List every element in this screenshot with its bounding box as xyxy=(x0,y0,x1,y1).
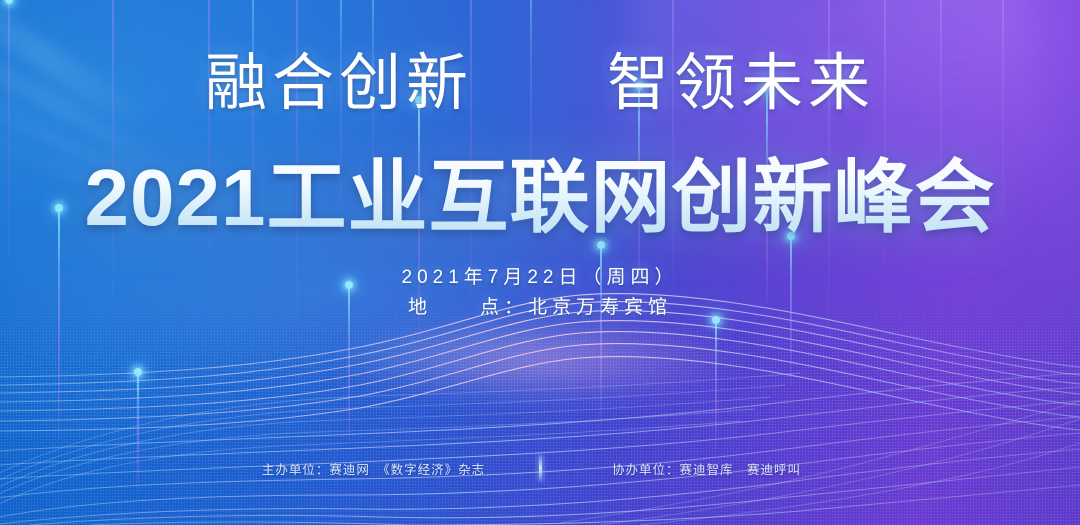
event-date: 2021年7月22日（周四） xyxy=(0,263,1080,293)
banner-tagline: 融合创新 智领未来 xyxy=(0,32,1080,122)
banner-content: 融合创新 智领未来 2021工业互联网创新峰会 2021年7月22日（周四） 地… xyxy=(0,0,1080,525)
event-info: 2021年7月22日（周四） 地 点：北京万寿宾馆 xyxy=(0,263,1080,323)
conference-banner: 融合创新 智领未来 2021工业互联网创新峰会 2021年7月22日（周四） 地… xyxy=(0,0,1080,525)
sponsor-footer: 主办单位：赛迪网 《数字经济》杂志 协办单位：赛迪智库 赛迪呼叫 xyxy=(0,455,1080,481)
event-venue: 地 点：北京万寿宾馆 xyxy=(0,293,1080,323)
coorganizer-organizations: 协办单位：赛迪智库 赛迪呼叫 xyxy=(542,459,872,478)
host-organizations: 主办单位：赛迪网 《数字经济》杂志 xyxy=(209,459,539,478)
banner-main-title: 2021工业互联网创新峰会 xyxy=(0,133,1080,249)
